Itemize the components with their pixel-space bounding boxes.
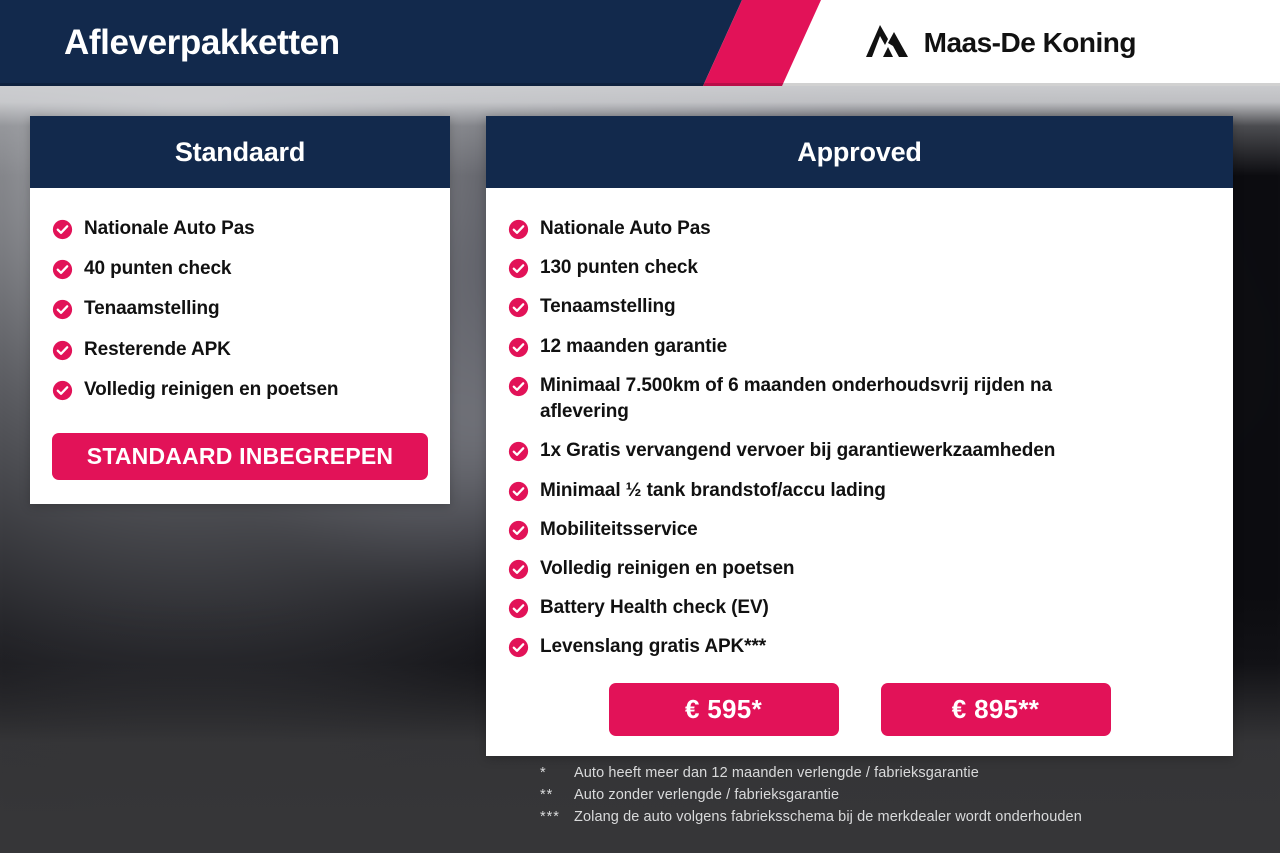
package-card-approved: Approved Nationale Auto Pas xyxy=(486,116,1233,756)
list-item: Tenaamstelling xyxy=(52,296,428,322)
price-button-row: € 595* € 895** xyxy=(508,683,1211,736)
package-card-standaard-header: Standaard xyxy=(30,116,450,188)
feature-label: Volledig reinigen en poetsen xyxy=(84,377,338,403)
check-circle-icon xyxy=(52,299,73,320)
footnote-text: Auto zonder verlengde / fabrieksgarantie xyxy=(574,784,839,806)
feature-label: Nationale Auto Pas xyxy=(84,216,255,242)
footnote-row: * Auto heeft meer dan 12 maanden verleng… xyxy=(540,762,1082,784)
footnote-mark: * xyxy=(540,762,574,784)
footnote-row: *** Zolang de auto volgens fabrieksschem… xyxy=(540,806,1082,828)
page-header: Afleverpakketten Maas-De Koning xyxy=(0,0,1280,86)
footnote-text: Auto heeft meer dan 12 maanden verlengde… xyxy=(574,762,979,784)
feature-list-approved: Nationale Auto Pas 130 punten check xyxy=(508,216,1211,661)
check-circle-icon xyxy=(508,297,529,318)
footnotes: * Auto heeft meer dan 12 maanden verleng… xyxy=(540,762,1082,828)
price-button-595[interactable]: € 595* xyxy=(609,683,839,736)
package-card-standaard: Standaard Nationale Auto Pas xyxy=(30,116,450,504)
feature-label: Mobiliteitsservice xyxy=(540,517,698,543)
feature-label: Levenslang gratis APK*** xyxy=(540,634,766,660)
check-circle-icon xyxy=(508,481,529,502)
check-circle-icon xyxy=(508,258,529,279)
feature-label: Minimaal ½ tank brandstof/accu lading xyxy=(540,478,886,504)
feature-label: Nationale Auto Pas xyxy=(540,216,711,242)
check-circle-icon xyxy=(508,559,529,580)
packages-stage: Standaard Nationale Auto Pas xyxy=(0,86,1280,853)
list-item: 1x Gratis vervangend vervoer bij garanti… xyxy=(508,438,1211,464)
brand-name: Maas-De Koning xyxy=(924,27,1136,59)
list-item: 130 punten check xyxy=(508,255,1211,281)
feature-list-standaard: Nationale Auto Pas 40 punten check xyxy=(52,216,428,403)
list-item: Tenaamstelling xyxy=(508,294,1211,320)
check-circle-icon xyxy=(508,441,529,462)
check-circle-icon xyxy=(508,637,529,658)
list-item: Battery Health check (EV) xyxy=(508,595,1211,621)
footnote-mark: ** xyxy=(540,784,574,806)
package-title-approved: Approved xyxy=(797,137,921,168)
check-circle-icon xyxy=(508,598,529,619)
feature-label: Volledig reinigen en poetsen xyxy=(540,556,794,582)
feature-label: Resterende APK xyxy=(84,337,231,363)
package-title-standaard: Standaard xyxy=(175,137,305,168)
feature-label: 130 punten check xyxy=(540,255,698,281)
list-item: Nationale Auto Pas xyxy=(52,216,428,242)
header-divider xyxy=(0,83,1280,86)
list-item: 40 punten check xyxy=(52,256,428,282)
list-item: Volledig reinigen en poetsen xyxy=(52,377,428,403)
footnote-text: Zolang de auto volgens fabrieksschema bi… xyxy=(574,806,1082,828)
list-item: Nationale Auto Pas xyxy=(508,216,1211,242)
price-button-895[interactable]: € 895** xyxy=(881,683,1111,736)
feature-label: Minimaal 7.500km of 6 maanden onderhouds… xyxy=(540,373,1140,425)
check-circle-icon xyxy=(52,380,73,401)
package-card-standaard-body: Nationale Auto Pas 40 punten check xyxy=(30,188,450,504)
maas-m-logo-icon xyxy=(864,23,910,63)
list-item: 12 maanden garantie xyxy=(508,334,1211,360)
feature-label: 12 maanden garantie xyxy=(540,334,727,360)
brand-logo: Maas-De Koning xyxy=(864,23,1136,63)
feature-label: Tenaamstelling xyxy=(540,294,676,320)
check-circle-icon xyxy=(508,376,529,397)
check-circle-icon xyxy=(508,337,529,358)
feature-label: 1x Gratis vervangend vervoer bij garanti… xyxy=(540,438,1055,464)
package-card-approved-body: Nationale Auto Pas 130 punten check xyxy=(486,188,1233,756)
list-item: Volledig reinigen en poetsen xyxy=(508,556,1211,582)
check-circle-icon xyxy=(52,340,73,361)
list-item: Mobiliteitsservice xyxy=(508,517,1211,543)
standaard-inbegrepen-button[interactable]: STANDAARD INBEGREPEN xyxy=(52,433,428,480)
footnote-row: ** Auto zonder verlengde / fabrieksgaran… xyxy=(540,784,1082,806)
feature-label: Battery Health check (EV) xyxy=(540,595,769,621)
page-title: Afleverpakketten xyxy=(64,23,340,63)
check-circle-icon xyxy=(52,219,73,240)
feature-label: Tenaamstelling xyxy=(84,296,220,322)
feature-label: 40 punten check xyxy=(84,256,231,282)
check-circle-icon xyxy=(52,259,73,280)
footnote-mark: *** xyxy=(540,806,574,828)
list-item: Minimaal 7.500km of 6 maanden onderhouds… xyxy=(508,373,1211,425)
check-circle-icon xyxy=(508,520,529,541)
list-item: Resterende APK xyxy=(52,337,428,363)
list-item: Minimaal ½ tank brandstof/accu lading xyxy=(508,478,1211,504)
list-item: Levenslang gratis APK*** xyxy=(508,634,1211,660)
package-card-approved-header: Approved xyxy=(486,116,1233,188)
check-circle-icon xyxy=(508,219,529,240)
